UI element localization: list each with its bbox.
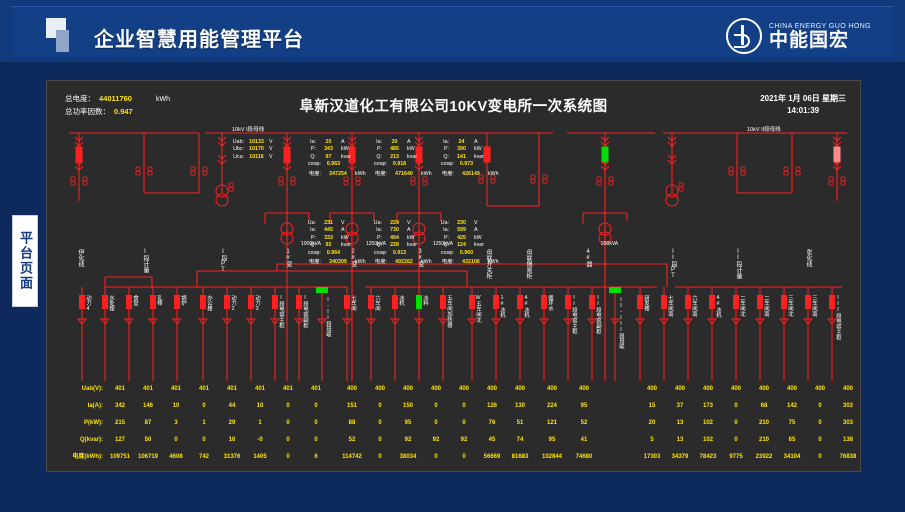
table-cell: 10	[163, 398, 189, 415]
table-cell: 65	[779, 432, 805, 449]
kwh-value: 432106	[454, 259, 488, 265]
feeder-label[interactable]: III段电容主柜	[834, 295, 841, 340]
ubc-value: 10170	[244, 146, 269, 152]
ua-unit: V	[407, 220, 411, 226]
feeder-label[interactable]: 4#冰机	[714, 295, 721, 318]
table-cell: 142	[779, 398, 805, 415]
p-unit: kW	[407, 235, 415, 241]
table-cell: 0	[423, 398, 449, 415]
hv-cell-measurements-2: Ia:30A P:485kW Q:213kvar cosφ:0.918 电度:4…	[367, 139, 432, 176]
feeder-label[interactable]: II段电容主柜	[570, 295, 577, 334]
table-cell: 74680	[566, 449, 602, 466]
table-cell: 1	[191, 415, 217, 432]
hv-bay-label[interactable]: 母联开关柜	[484, 249, 491, 279]
table-cell: 401	[163, 381, 189, 398]
feeder-breaker[interactable]	[609, 287, 621, 293]
table-cell: 401	[275, 381, 301, 398]
hv-cell-measurements-1: Ia:20A P:343kW Q:97kvar cosφ:0.963 电度:34…	[301, 139, 366, 176]
table-cell: 0	[723, 415, 749, 432]
busbar-label-left: 10kV I段母线	[232, 125, 264, 133]
ia-unit: A	[474, 227, 478, 233]
table-cell: 303	[835, 398, 861, 415]
row-label: 电度(kWh):	[51, 449, 103, 466]
cos-label: cosφ:	[367, 250, 387, 256]
table-cell: 0	[807, 432, 833, 449]
uab-value: 10133	[244, 139, 269, 145]
table-cell: 102	[695, 415, 721, 432]
header-inner-bar: 企业智慧用能管理平台 CHINA ENERGY GUO HONG 中能国宏	[12, 6, 893, 57]
table-cell: 0	[303, 432, 329, 449]
table-cell: 13	[667, 415, 693, 432]
p-label: P:	[301, 146, 316, 152]
table-cell: 342	[107, 398, 133, 415]
p-unit: kW	[341, 235, 349, 241]
kwh-label: 电度:	[301, 257, 321, 265]
ua-value: 230	[449, 220, 474, 226]
uab-unit: V	[269, 139, 273, 145]
table-cell: 1	[247, 415, 273, 432]
table-cell: 0	[367, 398, 393, 415]
hv-bay-label[interactable]: I段PT	[219, 249, 226, 273]
ua-value: 231	[316, 220, 341, 226]
hv-bay-label[interactable]: II段计量	[734, 249, 741, 279]
china-energy-guohong-logo-icon	[726, 18, 762, 54]
table-cell: 95	[571, 398, 597, 415]
ia-label: Ia:	[301, 139, 316, 145]
table-cell: 0	[451, 398, 477, 415]
cos-label: cosφ:	[434, 250, 454, 256]
table-cell: 0	[807, 398, 833, 415]
row-label: Q(kvar):	[51, 432, 103, 449]
table-cell: 0	[723, 398, 749, 415]
ua-value: 229	[382, 220, 407, 226]
table-row: 电度(kWh):10975110671946087423137614050611…	[47, 449, 860, 466]
hv-bay-label[interactable]: 1#变	[284, 249, 291, 267]
ia-unit: A	[407, 227, 411, 233]
table-cell: 45	[479, 432, 505, 449]
feeder-label[interactable]: I-II段母联	[324, 297, 331, 337]
ua-label: Ua:	[367, 220, 382, 226]
kwh-label: 电度:	[367, 169, 387, 177]
measurement-table: Uab(V):401401401401401401401401400400400…	[47, 381, 860, 466]
kwh-value: 426149	[454, 171, 488, 177]
feeder-label[interactable]: 轧棒	[155, 295, 162, 306]
ia-unit: A	[341, 227, 345, 233]
feeder-breaker[interactable]	[316, 287, 328, 293]
table-cell: 401	[303, 381, 329, 398]
table-cell: 81683	[502, 449, 538, 466]
q-value: 213	[382, 154, 407, 160]
table-cell: 102	[695, 432, 721, 449]
table-cell: 401	[107, 381, 133, 398]
table-row: Ia(A):3421461004410001510150001261302249…	[47, 398, 860, 415]
transformer-rating: 1250kVA	[366, 241, 386, 247]
kwh-label: 电度:	[434, 169, 454, 177]
table-cell: 130	[507, 398, 533, 415]
table-cell: 401	[219, 381, 245, 398]
table-cell: 400	[571, 381, 597, 398]
table-cell: 68	[751, 398, 777, 415]
table-cell: -0	[247, 432, 273, 449]
ia-value: 445	[316, 227, 341, 233]
table-cell: 121	[539, 415, 565, 432]
kwh-unit: kWh	[355, 259, 366, 265]
table-cell: 20	[639, 415, 665, 432]
ubc-label: Ubc:	[229, 146, 244, 152]
hv-cell-measurements-3: Ia:24A P:390kW Q:141kvar cosφ:0.973 电度:4…	[434, 139, 499, 176]
p-unit: kW	[341, 146, 349, 152]
feeder-label[interactable]: 冰机	[397, 295, 404, 306]
cos-label: cosφ:	[434, 161, 454, 167]
hv-bay-label[interactable]: 3#变	[416, 249, 423, 267]
feeder-label[interactable]: 七车间南	[666, 295, 673, 317]
table-cell: 92	[451, 432, 477, 449]
table-cell: 0	[423, 415, 449, 432]
app-header: 企业智慧用能管理平台 CHINA ENERGY GUO HONG 中能国宏	[0, 0, 905, 62]
kwh-unit: kWh	[421, 171, 432, 177]
table-cell: 150	[395, 398, 421, 415]
table-cell: 400	[695, 381, 721, 398]
table-cell: 0	[275, 415, 301, 432]
table-cell: 400	[835, 381, 861, 398]
ia-unit: A	[474, 139, 478, 145]
table-cell: 52	[339, 432, 365, 449]
table-cell: 401	[135, 381, 161, 398]
feeder-label[interactable]: I段电容主柜	[277, 295, 284, 328]
cos-value: 0.964	[321, 250, 346, 256]
feeder-label[interactable]: 六车间南	[690, 295, 697, 317]
table-cell: 15	[639, 398, 665, 415]
table-cell: 75	[779, 415, 805, 432]
table-cell: 92	[423, 432, 449, 449]
ubc-unit: V	[269, 146, 273, 152]
sidebar-item-label: 平台页面	[13, 231, 37, 291]
p-value: 485	[382, 146, 407, 152]
table-cell: 400	[479, 381, 505, 398]
kwh-unit: kWh	[488, 171, 499, 177]
feeder-label[interactable]: 动力2	[229, 295, 236, 312]
transformer-rating: 1000kVA	[301, 241, 321, 247]
p-value: 390	[449, 146, 474, 152]
feeder-label[interactable]: II段电容副柜	[594, 295, 601, 334]
feeder-label[interactable]: 冰料	[421, 295, 428, 306]
table-cell: 401	[247, 381, 273, 398]
table-cell: 400	[639, 381, 665, 398]
q-value: 141	[449, 154, 474, 160]
table-cell: 102844	[534, 449, 570, 466]
hv-bay-label[interactable]: 2#变	[349, 249, 356, 267]
ia-label: Ia:	[301, 227, 316, 233]
table-cell: 146	[135, 398, 161, 415]
table-cell: 50	[135, 432, 161, 449]
hv-bay-label[interactable]: 张化线	[804, 249, 811, 267]
table-cell: 400	[507, 381, 533, 398]
single-line-diagram-panel: 总电度： 44011760 kWh 总功率因数： 0.947 阜新汉道化工有限公…	[46, 80, 861, 472]
table-cell: 127	[107, 432, 133, 449]
q-unit: kvar	[407, 242, 417, 248]
page-title: 企业智慧用能管理平台	[94, 23, 304, 52]
table-cell: 88	[339, 415, 365, 432]
feeder-label[interactable]: 三车间南	[810, 295, 817, 317]
pt-readings: Uab:10133V Ubc:10170V Uca:10116V	[229, 139, 273, 161]
kwh-value: 471640	[387, 171, 421, 177]
table-cell: 41	[571, 432, 597, 449]
table-cell: 0	[303, 415, 329, 432]
feeder-label[interactable]: 水处理	[107, 295, 114, 311]
table-cell: 0	[367, 432, 393, 449]
table-row: Uab(V):401401401401401401401401400400400…	[47, 381, 860, 398]
feeder-label[interactable]: 五车间加热器	[445, 295, 452, 327]
cos-label: cosφ:	[301, 250, 321, 256]
busbar-label-right: 10kV II段母线	[747, 125, 781, 133]
hv-bay-label[interactable]: 母联隔离柜	[524, 249, 531, 279]
p-unit: kW	[474, 146, 482, 152]
cos-value: 0.918	[387, 161, 412, 167]
feeder-label[interactable]: I段电容副柜	[301, 295, 308, 328]
ia-value: 20	[316, 139, 341, 145]
table-cell: 6	[298, 449, 334, 466]
feeder-label[interactable]: 食堂	[131, 295, 138, 306]
table-cell: 0	[163, 432, 189, 449]
p-value: 494	[382, 235, 407, 241]
cos-value: 0.913	[387, 250, 412, 256]
p-unit: kW	[407, 146, 415, 152]
ia-value: 730	[382, 227, 407, 233]
hv-bay-label[interactable]: 伊化线	[76, 249, 83, 267]
row-label: Uab(V):	[51, 381, 103, 398]
feeder-label[interactable]: 1#冰机	[498, 295, 505, 318]
p-value: 425	[449, 235, 474, 241]
table-cell: 76	[479, 415, 505, 432]
ia-value: 30	[382, 139, 407, 145]
table-cell: 0	[723, 432, 749, 449]
q-unit: kvar	[341, 154, 351, 160]
feeder-label[interactable]: 办公楼	[205, 295, 212, 311]
table-cell: 10	[247, 398, 273, 415]
hv-bay-label[interactable]: II段PT	[669, 249, 676, 279]
table-cell: 400	[807, 381, 833, 398]
feeder-label[interactable]: W五车间北	[474, 295, 481, 323]
feeder-label[interactable]: 循环水	[546, 295, 553, 311]
sidebar-item-platform-page[interactable]: 平台页面	[12, 215, 38, 307]
table-cell: 400	[451, 381, 477, 398]
brand-logo: CHINA ENERGY GUO HONG 中能国宏	[726, 17, 871, 55]
ia-unit: A	[407, 139, 411, 145]
table-cell: 0	[191, 398, 217, 415]
p-unit: kW	[474, 235, 482, 241]
q-value: 97	[316, 154, 341, 160]
cos-label: cosφ:	[301, 161, 321, 167]
p-label: P:	[434, 146, 449, 152]
table-cell: 224	[539, 398, 565, 415]
feeder-label[interactable]: 4#冰机	[522, 295, 529, 318]
table-cell: 29	[219, 415, 245, 432]
uab-label: Uab:	[229, 139, 244, 145]
table-cell: 52	[571, 415, 597, 432]
table-cell: 400	[751, 381, 777, 398]
table-cell: 0	[451, 415, 477, 432]
kwh-label: 电度:	[367, 257, 387, 265]
uca-label: Uca:	[229, 154, 244, 160]
kwh-label: 电度:	[434, 257, 454, 265]
q-unit: kvar	[474, 154, 484, 160]
feeder-label[interactable]: 锅炉	[179, 295, 186, 306]
kwh-value: 347254	[321, 171, 355, 177]
ia-label: Ia:	[367, 227, 382, 233]
feeder-label[interactable]: II-III段母联	[617, 297, 624, 349]
ia-value: 24	[449, 139, 474, 145]
table-cell: 44	[219, 398, 245, 415]
table-cell: 401	[191, 381, 217, 398]
hv-bay-label[interactable]: 4#器	[584, 249, 591, 267]
kwh-unit: kWh	[355, 171, 366, 177]
table-cell: 87	[135, 415, 161, 432]
table-cell: 0	[191, 432, 217, 449]
p-label: P:	[301, 235, 316, 241]
p-label: P:	[434, 235, 449, 241]
ua-label: Ua:	[434, 220, 449, 226]
uca-value: 10116	[244, 154, 269, 160]
table-cell: 210	[751, 432, 777, 449]
table-cell: 51	[507, 415, 533, 432]
ia-value: 599	[449, 227, 474, 233]
q-label: Q:	[434, 154, 449, 160]
uca-unit: V	[269, 154, 273, 160]
table-cell: 400	[339, 381, 365, 398]
ia-unit: A	[341, 139, 345, 145]
q-unit: kvar	[341, 242, 351, 248]
table-cell: 76838	[830, 449, 861, 466]
square-blocks-logo-icon	[46, 18, 80, 52]
table-cell: 13	[667, 432, 693, 449]
p-value: 333	[316, 235, 341, 241]
table-cell: 0	[367, 415, 393, 432]
table-cell: 37	[667, 398, 693, 415]
table-cell: 215	[107, 415, 133, 432]
ia-label: Ia:	[367, 139, 382, 145]
table-cell: 400	[395, 381, 421, 398]
table-cell: 400	[367, 381, 393, 398]
feeder-label[interactable]: 动力4	[84, 295, 91, 312]
table-cell: 0	[275, 432, 301, 449]
q-unit: kvar	[474, 242, 484, 248]
q-label: Q:	[301, 154, 316, 160]
table-cell: 5	[639, 432, 665, 449]
q-unit: kvar	[407, 154, 417, 160]
table-row: P(kW):2158731291008809500765112152201310…	[47, 415, 860, 432]
table-cell: 95	[539, 432, 565, 449]
feeder-label[interactable]: 动力3	[253, 295, 260, 312]
table-cell: 151	[339, 398, 365, 415]
feeder-label[interactable]: 二车间北	[738, 295, 745, 317]
ia-label: Ia:	[434, 227, 449, 233]
transformer-rating: 1250kVA	[433, 241, 453, 247]
p-label: P:	[367, 235, 382, 241]
table-cell: 0	[275, 398, 301, 415]
table-cell: 126	[479, 398, 505, 415]
table-cell: 74	[507, 432, 533, 449]
ia-label: Ia:	[434, 139, 449, 145]
row-label: P(kW):	[51, 415, 103, 432]
feeder-label[interactable]: 六车间	[373, 295, 380, 311]
ua-label: Ua:	[301, 220, 316, 226]
table-cell: 400	[667, 381, 693, 398]
table-cell: 400	[423, 381, 449, 398]
table-row: Q(kvar):127500016-0005209292924574954151…	[47, 432, 860, 449]
q-label: Q:	[367, 154, 382, 160]
table-cell: 303	[835, 415, 861, 432]
feeder-label[interactable]: 研发楼	[642, 295, 649, 311]
transformer-rating: 200kVA	[601, 241, 618, 247]
p-label: P:	[367, 146, 382, 152]
table-cell: 400	[779, 381, 805, 398]
table-cell: 400	[723, 381, 749, 398]
table-cell: 16	[219, 432, 245, 449]
ua-unit: V	[341, 220, 345, 226]
table-cell: 400	[539, 381, 565, 398]
cos-value: 0.963	[321, 161, 346, 167]
brand-text-cn: 中能国宏	[769, 31, 871, 51]
table-cell: 95	[395, 415, 421, 432]
p-value: 343	[316, 146, 341, 152]
cos-value: 0.960	[454, 250, 479, 256]
row-label: Ia(A):	[51, 398, 103, 415]
feeder-label[interactable]: 三车间北	[786, 295, 793, 317]
kwh-label: 电度:	[301, 169, 321, 177]
feeder-label[interactable]: 七车间	[349, 295, 356, 311]
table-cell: 0	[303, 398, 329, 415]
table-cell: 138	[835, 432, 861, 449]
hv-bay-label[interactable]: I段计量	[141, 249, 148, 273]
table-cell: 173	[695, 398, 721, 415]
table-cell: 3	[163, 415, 189, 432]
feeder-label[interactable]: 二车间南	[762, 295, 769, 317]
table-cell: 0	[807, 415, 833, 432]
table-cell: 92	[395, 432, 421, 449]
table-cell: 210	[751, 415, 777, 432]
cos-label: cosφ:	[367, 161, 387, 167]
cos-value: 0.973	[454, 161, 479, 167]
ua-unit: V	[474, 220, 478, 226]
